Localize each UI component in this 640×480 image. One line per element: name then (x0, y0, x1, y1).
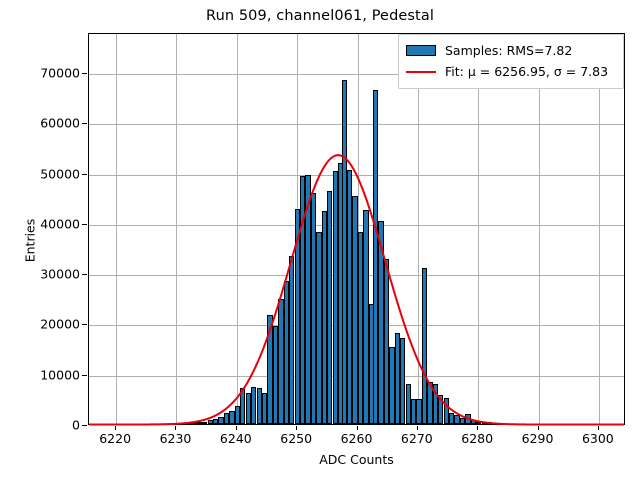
x-tick-mark (477, 426, 478, 430)
x-tick-mark (538, 426, 539, 430)
x-tick-mark (175, 426, 176, 430)
x-tick-label: 6270 (401, 431, 433, 446)
fit-curve (89, 34, 624, 425)
x-tick-label: 6220 (99, 431, 131, 446)
y-tick-label: 10000 (40, 367, 80, 382)
y-tick-label: 30000 (40, 267, 80, 282)
x-tick-label: 6250 (280, 431, 312, 446)
x-axis-label: ADC Counts (88, 452, 625, 467)
legend-swatch-line-icon (406, 71, 436, 73)
legend-swatch-bar-icon (406, 45, 436, 56)
x-tick-mark (357, 426, 358, 430)
chart-title: Run 509, channel061, Pedestal (0, 8, 640, 24)
y-tick-mark (82, 73, 87, 74)
x-tick-label: 6230 (160, 431, 192, 446)
x-tick-label: 6300 (582, 431, 614, 446)
y-tick-label: 70000 (40, 66, 80, 81)
legend: Samples: RMS=7.82 Fit: μ = 6256.95, σ = … (398, 34, 624, 89)
legend-label-samples: Samples: RMS=7.82 (445, 43, 572, 58)
y-tick-label: 50000 (40, 166, 80, 181)
y-tick-label: 20000 (40, 317, 80, 332)
y-tick-mark (82, 425, 87, 426)
x-tick-mark (236, 426, 237, 430)
y-tick-label: 40000 (40, 216, 80, 231)
y-tick-mark (82, 375, 87, 376)
x-tick-label: 6280 (461, 431, 493, 446)
plot-area (88, 33, 625, 425)
x-tick-mark (296, 426, 297, 430)
x-tick-mark (115, 426, 116, 430)
x-tick-mark (417, 426, 418, 430)
x-tick-label: 6240 (220, 431, 252, 446)
y-axis-label-text: Entries (22, 218, 37, 262)
y-tick-mark (82, 123, 87, 124)
legend-item-samples: Samples: RMS=7.82 (406, 40, 616, 61)
x-tick-label: 6290 (522, 431, 554, 446)
x-tick-mark (598, 426, 599, 430)
figure: Run 509, channel061, Pedestal Entries AD… (0, 0, 640, 480)
legend-label-fit: Fit: μ = 6256.95, σ = 7.83 (445, 64, 608, 79)
y-tick-mark (82, 274, 87, 275)
y-tick-mark (82, 224, 87, 225)
y-tick-label: 60000 (40, 116, 80, 131)
y-tick-mark (82, 324, 87, 325)
y-tick-mark (82, 174, 87, 175)
x-tick-label: 6260 (341, 431, 373, 446)
y-tick-label: 0 (72, 418, 80, 433)
legend-item-fit: Fit: μ = 6256.95, σ = 7.83 (406, 61, 616, 82)
